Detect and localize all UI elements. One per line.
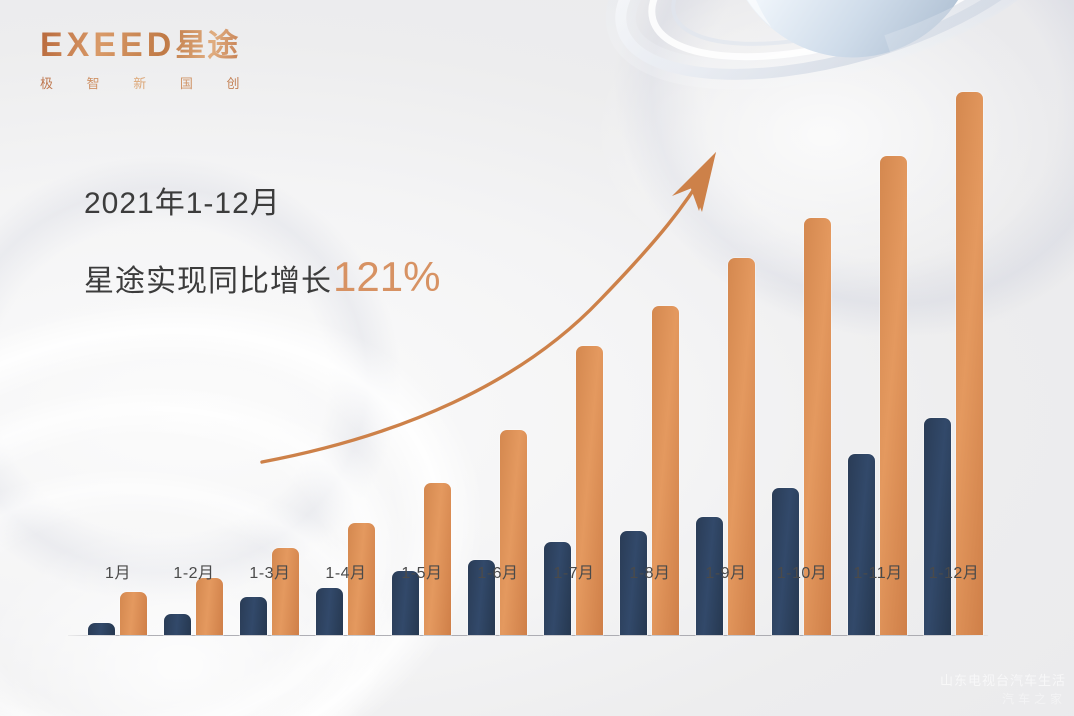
bar-prev-2[interactable]	[164, 614, 191, 635]
slide-canvas: EXEED星途 极 智 新 国 创 2021年1-12月 星途实现同比增长 12…	[0, 0, 1074, 716]
bar-group-11[interactable]: 1-11月	[840, 75, 916, 635]
bar-prev-12[interactable]	[924, 418, 951, 635]
bar-group-7[interactable]: 1-7月	[536, 75, 612, 635]
watermark-line-2: 汽车之家	[940, 691, 1066, 708]
bar-chart: 1月 1-2月 1-3月 1-4月 1-5月 1-6月	[0, 0, 1074, 716]
bar-group-5[interactable]: 1-5月	[384, 75, 460, 635]
bar-prev-1[interactable]	[88, 623, 115, 635]
watermark: 山东电视台汽车生活 汽车之家	[940, 672, 1066, 708]
bar-prev-4[interactable]	[316, 588, 343, 635]
chart-baseline-axis	[68, 635, 988, 636]
bar-prev-3[interactable]	[240, 597, 267, 635]
bar-group-12[interactable]: 1-12月	[916, 75, 992, 635]
bar-curr-12[interactable]	[956, 92, 983, 635]
bar-curr-2[interactable]	[196, 578, 223, 635]
bar-curr-6[interactable]	[500, 430, 527, 635]
bar-group-3[interactable]: 1-3月	[232, 75, 308, 635]
bar-prev-11[interactable]	[848, 454, 875, 635]
bar-group-8[interactable]: 1-8月	[612, 75, 688, 635]
bar-group-6[interactable]: 1-6月	[460, 75, 536, 635]
bar-curr-7[interactable]	[576, 346, 603, 635]
bar-curr-8[interactable]	[652, 306, 679, 635]
bar-curr-1[interactable]	[120, 592, 147, 635]
bar-group-4[interactable]: 1-4月	[308, 75, 384, 635]
bar-prev-8[interactable]	[620, 531, 647, 635]
watermark-line-1: 山东电视台汽车生活	[940, 672, 1066, 691]
x-axis-label-12: 1-12月	[904, 559, 1004, 583]
bar-prev-7[interactable]	[544, 542, 571, 635]
bar-group-2[interactable]: 1-2月	[156, 75, 232, 635]
bar-group-1[interactable]: 1月	[80, 75, 156, 635]
bar-group-9[interactable]: 1-9月	[688, 75, 764, 635]
bar-group-10[interactable]: 1-10月	[764, 75, 840, 635]
